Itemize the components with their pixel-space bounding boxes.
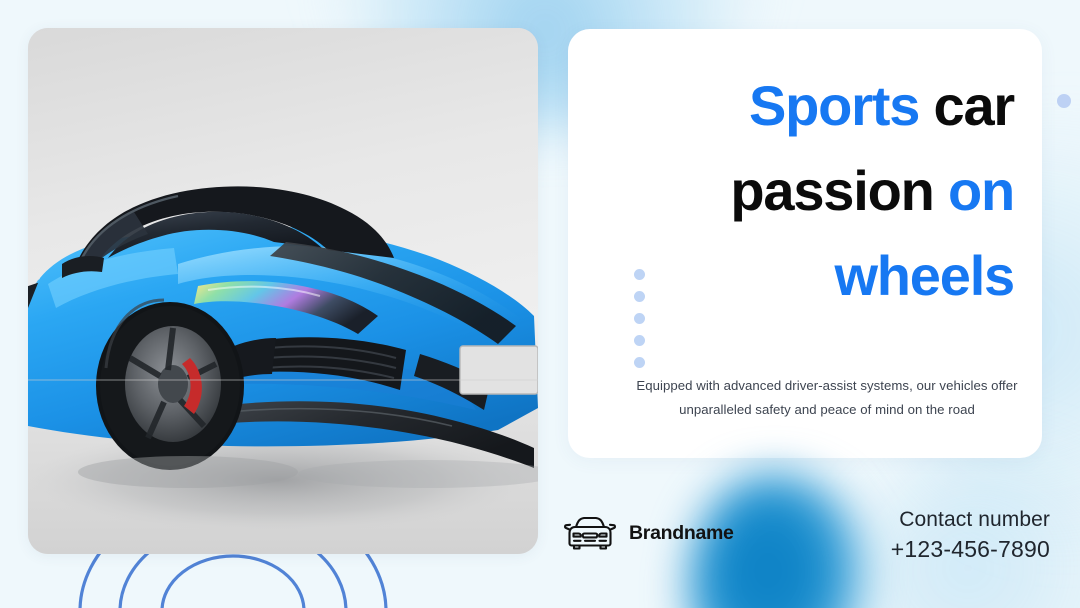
headline-line-1: Sports car	[596, 63, 1014, 148]
brand-lockup[interactable]: Brandname	[562, 513, 734, 553]
headline-line-2: passion on	[596, 148, 1014, 233]
decor-dot-5	[634, 357, 645, 368]
arc-inner	[162, 556, 304, 608]
decor-dot-1	[634, 269, 645, 280]
car-front-icon	[562, 513, 618, 553]
headline-card: Sports car passion on wheels Equipped wi…	[568, 29, 1042, 458]
edge-dot-decoration	[1057, 94, 1071, 108]
headline-word-wheels: wheels	[834, 244, 1014, 307]
headline-line-3: wheels	[596, 233, 1014, 318]
decor-dot-3	[634, 313, 645, 324]
headline-word-car: car	[934, 74, 1014, 137]
poster-canvas: Sports car passion on wheels Equipped wi…	[0, 0, 1080, 608]
dots-column-decoration	[634, 269, 645, 368]
headline-word-passion: passion	[730, 159, 933, 222]
body-copy: Equipped with advanced driver-assist sys…	[630, 374, 1024, 422]
contact-number[interactable]: +123-456-7890	[891, 534, 1050, 564]
page-title: Sports car passion on wheels	[596, 63, 1014, 318]
contact-label: Contact number	[891, 506, 1050, 534]
decor-dot-4	[634, 335, 645, 346]
contact-block: Contact number +123-456-7890	[891, 506, 1050, 564]
headline-word-sports: Sports	[749, 74, 919, 137]
blue-sports-car-image	[28, 28, 538, 554]
decor-dot-2	[634, 291, 645, 302]
car-photo-card	[28, 28, 538, 554]
brand-name-label: Brandname	[629, 522, 734, 545]
headline-word-on: on	[948, 159, 1014, 222]
